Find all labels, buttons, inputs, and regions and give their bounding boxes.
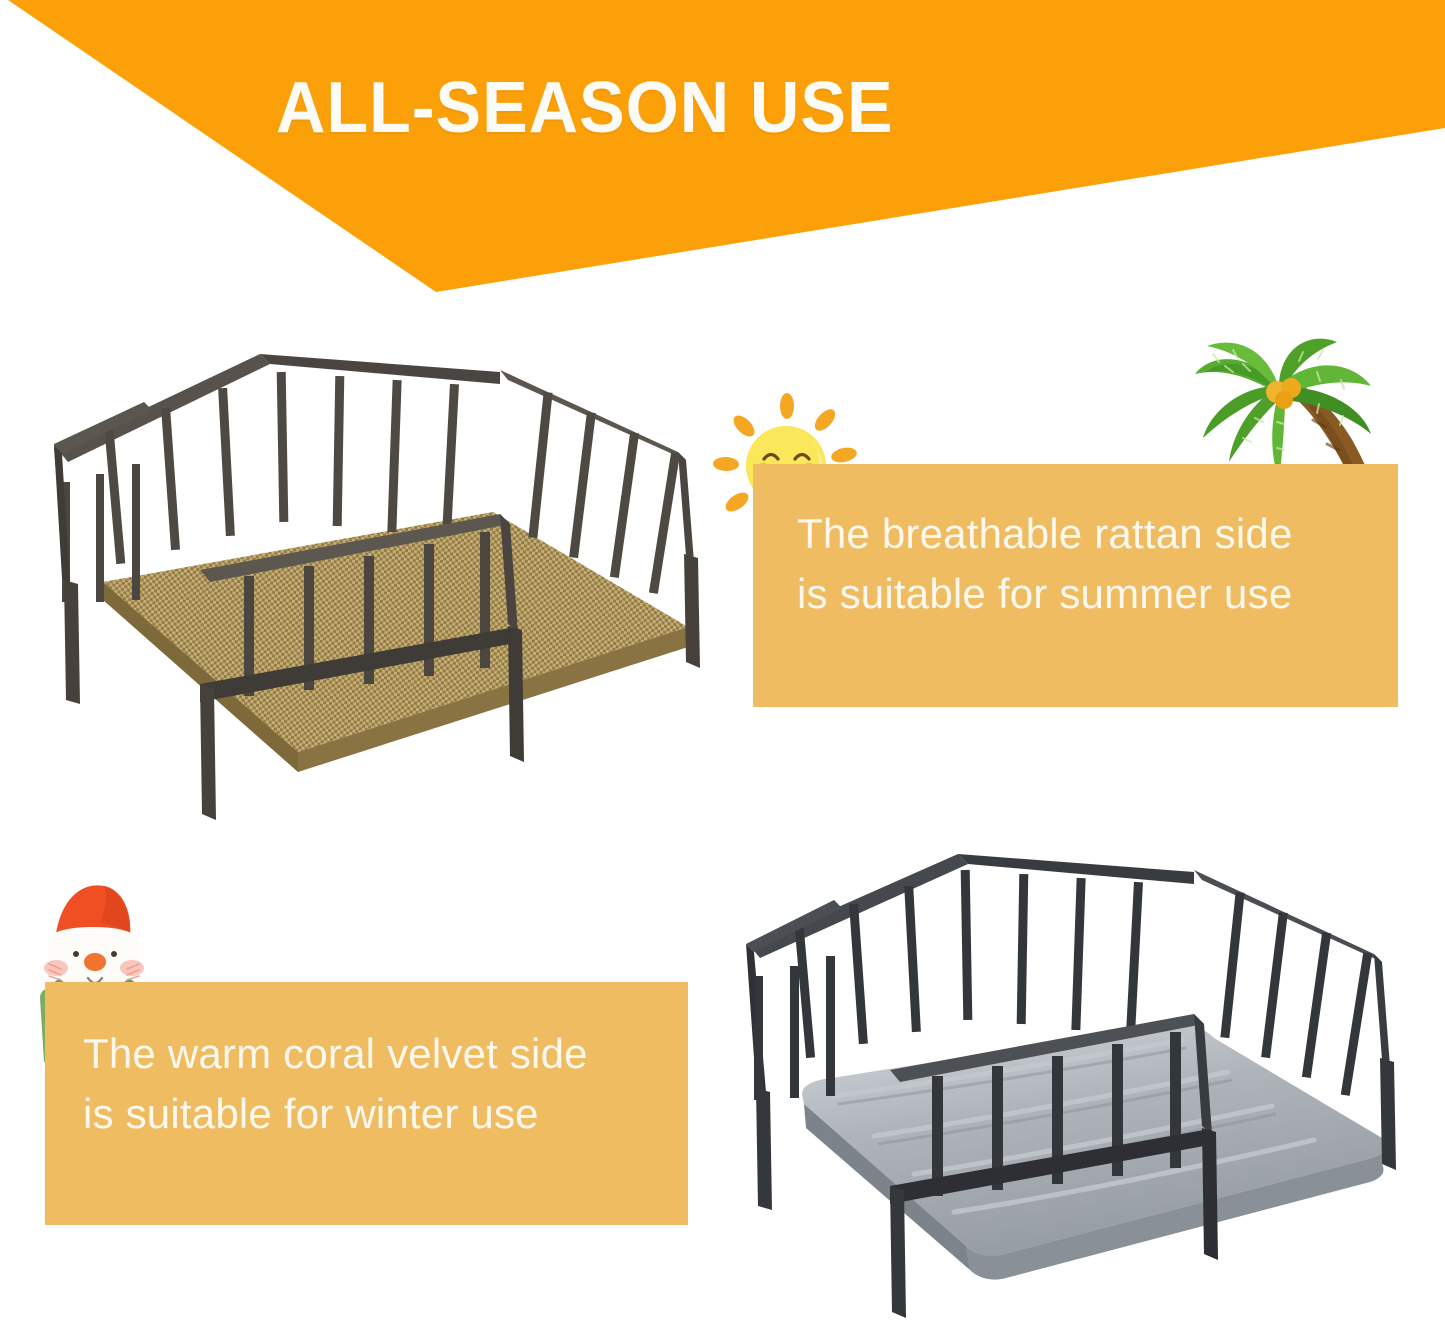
velvet-bed-illustration — [742, 848, 1404, 1330]
header-banner: ALL-SEASON USE — [0, 0, 1445, 300]
page-title: ALL-SEASON USE — [36, 72, 1409, 144]
product-photo-velvet-bed — [742, 848, 1404, 1330]
marketing-image-canvas: ALL-SEASON USE — [0, 0, 1445, 1337]
winter-caption-text: The warm coral velvet side is suitable f… — [45, 1024, 588, 1183]
winter-caption-box: The warm coral velvet side is suitable f… — [45, 982, 688, 1225]
summer-caption-box: The breathable rattan side is suitable f… — [753, 464, 1398, 707]
product-photo-rattan-bed — [48, 332, 718, 852]
summer-caption-text: The breathable rattan side is suitable f… — [753, 504, 1293, 667]
rattan-bed-illustration — [48, 332, 718, 852]
banner-shape — [0, 0, 1445, 300]
